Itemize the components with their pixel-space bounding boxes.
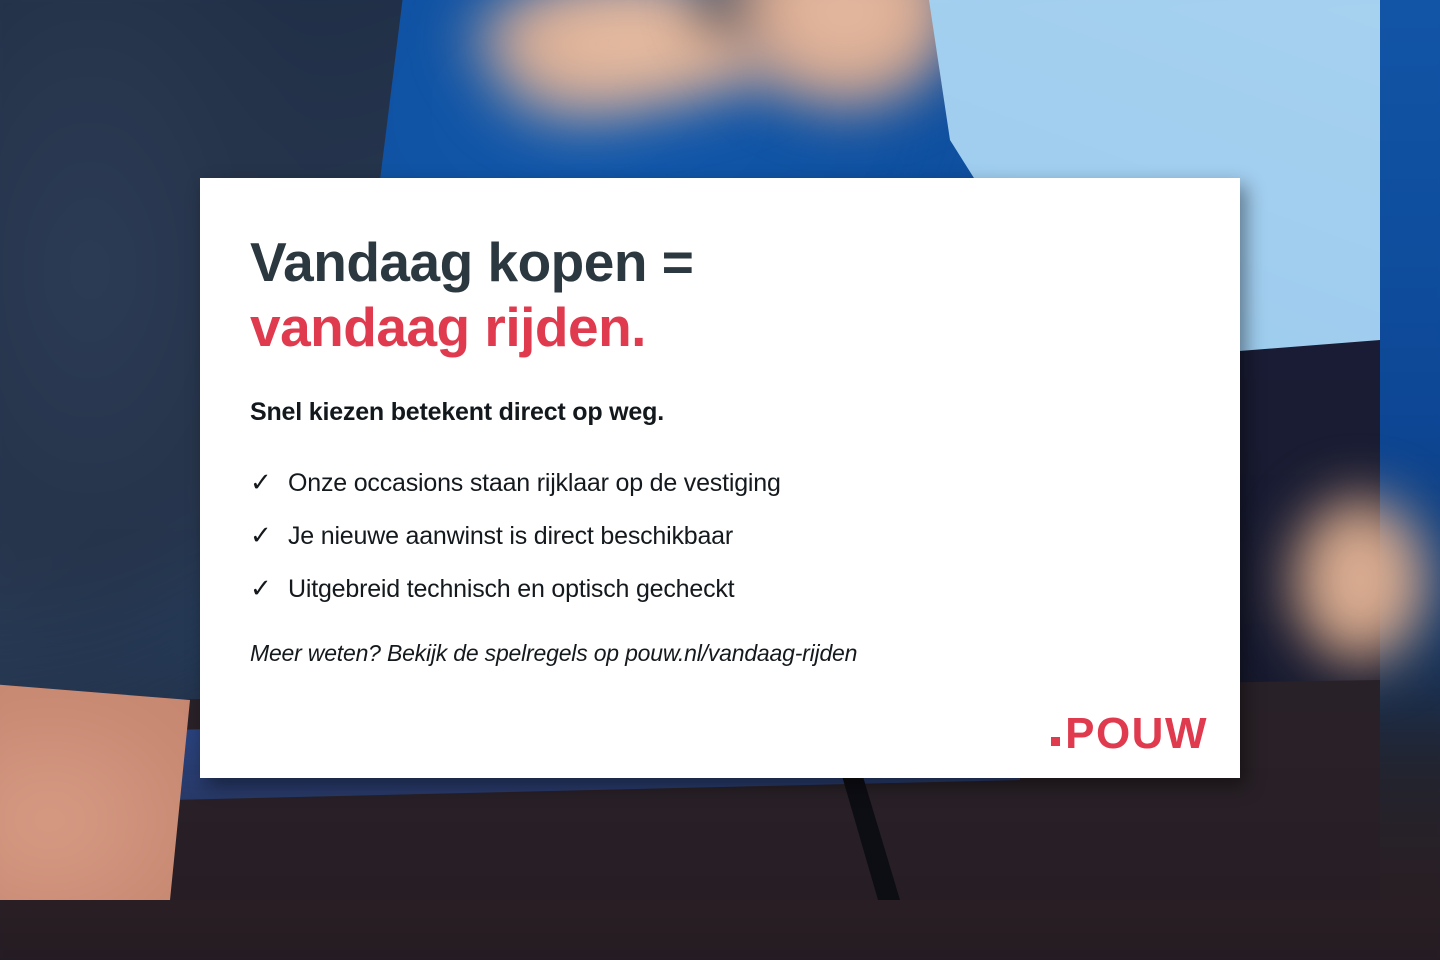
list-item: ✓ Onze occasions staan rijklaar op de ve… [250,469,1240,498]
check-icon: ✓ [250,469,288,495]
list-item: ✓ Je nieuwe aanwinst is direct beschikba… [250,522,1240,551]
benefits-list: ✓ Onze occasions staan rijklaar op de ve… [250,469,1240,604]
logo-wordmark: POUW [1065,712,1208,756]
headline-line-2: vandaag rijden. [250,295,1240,360]
advertisement-banner: Vandaag kopen = vandaag rijden. Snel kie… [0,0,1440,960]
check-icon: ✓ [250,575,288,601]
list-item: ✓ Uitgebreid technisch en optisch gechec… [250,575,1240,604]
benefit-label: Onze occasions staan rijklaar op de vest… [288,469,781,498]
headline-line-1: Vandaag kopen = [250,230,1240,295]
benefit-label: Uitgebreid technisch en optisch gecheckt [288,575,734,604]
footnote-link-text[interactable]: Meer weten? Bekijk de spelregels op pouw… [250,640,1240,667]
promo-card: Vandaag kopen = vandaag rijden. Snel kie… [200,178,1240,778]
pouw-logo: POUW [1051,712,1208,756]
check-icon: ✓ [250,522,288,548]
benefit-label: Je nieuwe aanwinst is direct beschikbaar [288,522,733,551]
page-title: Vandaag kopen = vandaag rijden. [250,230,1240,360]
subheading: Snel kiezen betekent direct op weg. [250,398,1240,427]
logo-dot-icon [1051,737,1060,746]
